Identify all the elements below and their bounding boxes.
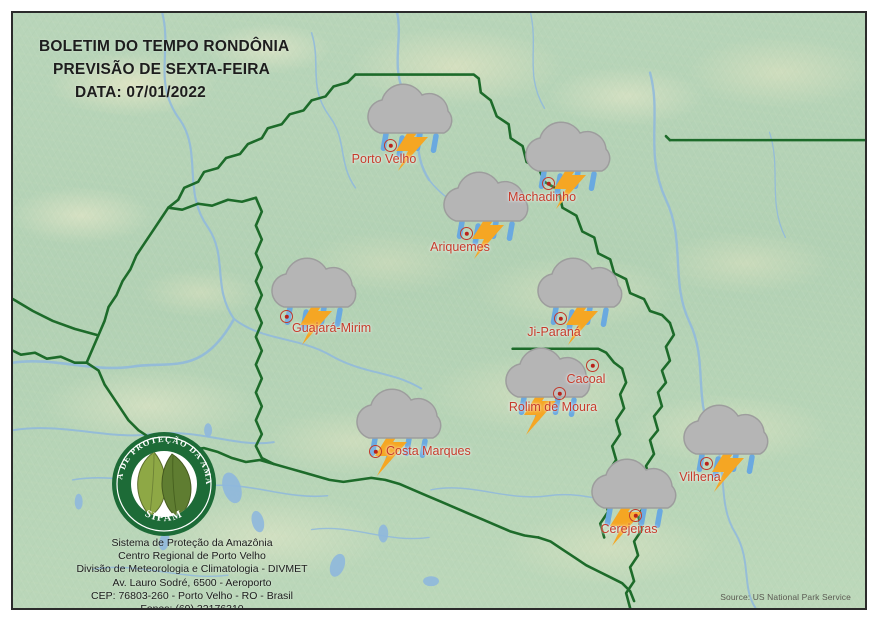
title-line-1: BOLETIM DO TEMPO RONDÔNIA bbox=[39, 35, 289, 58]
city-label: Cacoal bbox=[567, 373, 606, 386]
city-label: Machadinho bbox=[508, 191, 576, 204]
weather-bulletin-map: Porto Velho Machadinho Ariquemes Guajará… bbox=[0, 0, 878, 621]
city-label: Cerejeiras bbox=[601, 523, 658, 536]
map-frame: Porto Velho Machadinho Ariquemes Guajará… bbox=[11, 11, 867, 610]
city-marker bbox=[586, 359, 599, 372]
footer-line-1: Sistema de Proteção da Amazônia bbox=[27, 537, 357, 550]
cloud-icon bbox=[538, 258, 622, 307]
footer-line-2: Centro Regional de Porto Velho bbox=[27, 550, 357, 563]
sipam-logo: SISTEMA DE PROTEÇÃO DA AMAZÔNIA SIPAM bbox=[110, 430, 218, 538]
footer-line-6: Fones: (69) 32176310 bbox=[27, 603, 357, 610]
cloud-icon bbox=[592, 459, 676, 508]
cloud-icon bbox=[357, 389, 441, 438]
city-label: Rolim de Moura bbox=[509, 401, 597, 414]
city-marker bbox=[553, 387, 566, 400]
cloud-icon bbox=[368, 84, 452, 133]
city-marker bbox=[700, 457, 713, 470]
footer-line-5: CEP: 76803-260 - Porto Velho - RO - Bras… bbox=[27, 590, 357, 603]
city-marker bbox=[460, 227, 473, 240]
city-label: Porto Velho bbox=[352, 153, 417, 166]
bulletin-title-block: BOLETIM DO TEMPO RONDÔNIA PREVISÃO DE SE… bbox=[39, 35, 289, 104]
title-line-3: DATA: 07/01/2022 bbox=[39, 81, 289, 104]
city-label: Ariquemes bbox=[430, 241, 490, 254]
footer-line-3: Divisão de Meteorologia e Climatologia -… bbox=[27, 563, 357, 576]
city-marker bbox=[629, 509, 642, 522]
city-label: Costa Marques bbox=[386, 445, 471, 458]
source-credit: Source: US National Park Service bbox=[720, 592, 851, 602]
weather-icon-costa-marques[interactable] bbox=[341, 386, 459, 476]
cloud-icon bbox=[684, 405, 768, 454]
city-marker bbox=[369, 445, 382, 458]
cloud-icon bbox=[526, 122, 610, 171]
title-line-2: PREVISÃO DE SEXTA-FEIRA bbox=[39, 58, 289, 81]
city-label: Ji-Paraná bbox=[527, 326, 581, 339]
city-marker bbox=[542, 177, 555, 190]
cloud-icon bbox=[272, 258, 356, 307]
footer-line-4: Av. Lauro Sodré, 6500 - Aeroporto bbox=[27, 577, 357, 590]
city-marker bbox=[384, 139, 397, 152]
city-marker bbox=[554, 312, 567, 325]
city-label: Vilhena bbox=[679, 471, 720, 484]
city-label: Guajará-Mirim bbox=[292, 322, 371, 335]
footer-contact-block: Sistema de Proteção da Amazônia Centro R… bbox=[27, 537, 357, 610]
